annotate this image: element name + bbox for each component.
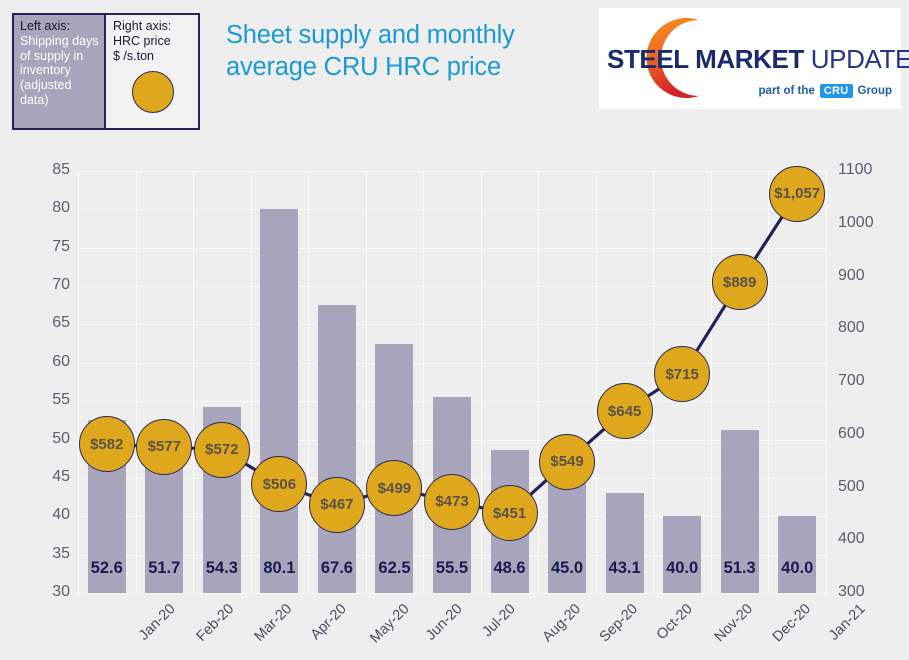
left-axis-tick: 80 (24, 199, 70, 217)
right-axis-tick: 800 (838, 319, 865, 337)
price-bubble[interactable]: $889 (712, 254, 768, 310)
price-bubble[interactable]: $473 (424, 474, 480, 530)
x-axis-tick: Jan-20 (136, 601, 179, 644)
x-axis-tick: Aug-20 (539, 601, 583, 645)
price-bubble[interactable]: $451 (482, 485, 538, 541)
left-axis-tick: 45 (24, 468, 70, 486)
x-axis-tick: Jun-20 (423, 601, 466, 644)
price-bubble[interactable]: $572 (194, 422, 250, 478)
price-bubble[interactable]: $1,057 (769, 166, 825, 222)
x-axis-tick: Oct-20 (653, 601, 695, 643)
chart-plot-wrapper: 52.651.754.380.167.662.555.548.645.043.1… (0, 0, 909, 660)
x-axis-tick: May-20 (367, 601, 413, 647)
left-axis-tick: 35 (24, 545, 70, 563)
price-bubble[interactable]: $582 (79, 416, 135, 472)
x-axis-tick: Nov-20 (712, 601, 756, 645)
left-axis-tick: 70 (24, 276, 70, 294)
right-axis-tick: 600 (838, 425, 865, 443)
left-axis-tick: 40 (24, 506, 70, 524)
x-axis-tick: Apr-20 (308, 601, 350, 643)
plot-area: 52.651.754.380.167.662.555.548.645.043.1… (78, 171, 826, 593)
left-axis-tick: 85 (24, 161, 70, 179)
right-axis-tick: 1000 (838, 214, 874, 232)
right-axis-tick: 900 (838, 267, 865, 285)
right-axis-tick: 1100 (838, 161, 872, 179)
price-bubble[interactable]: $715 (654, 346, 710, 402)
right-axis-tick: 400 (838, 530, 865, 548)
x-axis-tick: Feb-20 (194, 601, 238, 645)
left-axis-tick: 65 (24, 314, 70, 332)
x-axis-tick: Dec-20 (769, 601, 813, 645)
left-axis-tick: 75 (24, 238, 70, 256)
right-axis-tick: 300 (838, 583, 865, 601)
x-axis-tick: Mar-20 (251, 601, 295, 645)
left-axis-tick: 50 (24, 430, 70, 448)
price-bubble[interactable]: $645 (597, 383, 653, 439)
gridline-vertical (826, 171, 827, 593)
price-bubble[interactable]: $549 (539, 434, 595, 490)
right-axis-tick: 500 (838, 478, 865, 496)
gridline-horizontal (78, 593, 826, 594)
price-bubble[interactable]: $467 (309, 477, 365, 533)
right-axis-tick: 700 (838, 372, 865, 390)
chart-root: Left axis: Shipping days of supply in in… (0, 0, 909, 660)
x-axis-tick: Jul-20 (480, 601, 519, 640)
left-axis-tick: 30 (24, 583, 70, 601)
left-axis-tick: 55 (24, 391, 70, 409)
x-axis-tick: Jan-21 (826, 601, 869, 644)
x-axis-tick: Sep-20 (597, 601, 641, 645)
price-bubble[interactable]: $577 (136, 419, 192, 475)
left-axis-tick: 60 (24, 353, 70, 371)
